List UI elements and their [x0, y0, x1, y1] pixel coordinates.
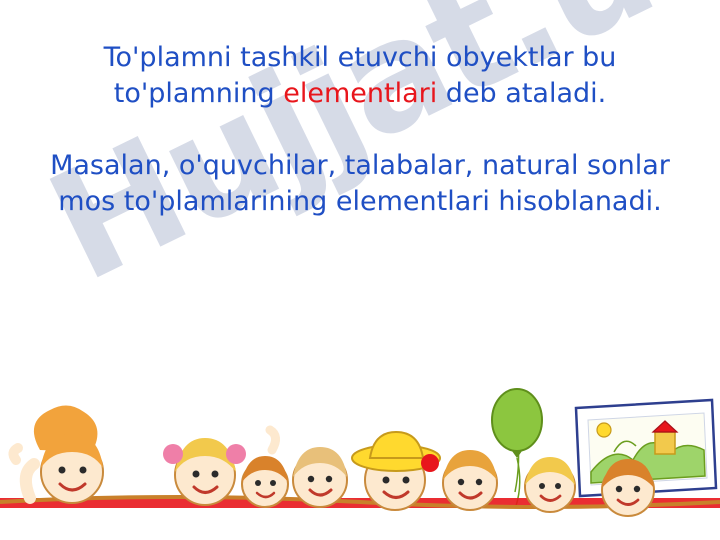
slide: Hujjat.uz To'plamni tashkil etuvchi obye… [0, 0, 720, 540]
child-7 [525, 457, 575, 512]
child-2 [163, 438, 246, 505]
child-6 [443, 450, 497, 510]
balloon-icon [492, 389, 542, 451]
illustration-children-row [0, 380, 720, 540]
paragraph-2: Masalan, o'quvchilar, talabalar, natural… [36, 148, 684, 220]
child-3 [242, 430, 288, 507]
child-4 [293, 447, 347, 507]
slide-text-block: To'plamni tashkil etuvchi obyektlar bu t… [36, 40, 684, 220]
child-1 [13, 405, 103, 503]
paragraph-1-segment-highlight: elementlari [283, 78, 437, 109]
paragraph-spacer [36, 112, 684, 148]
paragraph-1-segment-3: deb ataladi. [437, 78, 606, 109]
paragraph-1: To'plamni tashkil etuvchi obyektlar bu t… [36, 40, 684, 112]
paragraph-2-segment-1: Masalan, o'quvchilar, talabalar, natural… [50, 150, 670, 217]
